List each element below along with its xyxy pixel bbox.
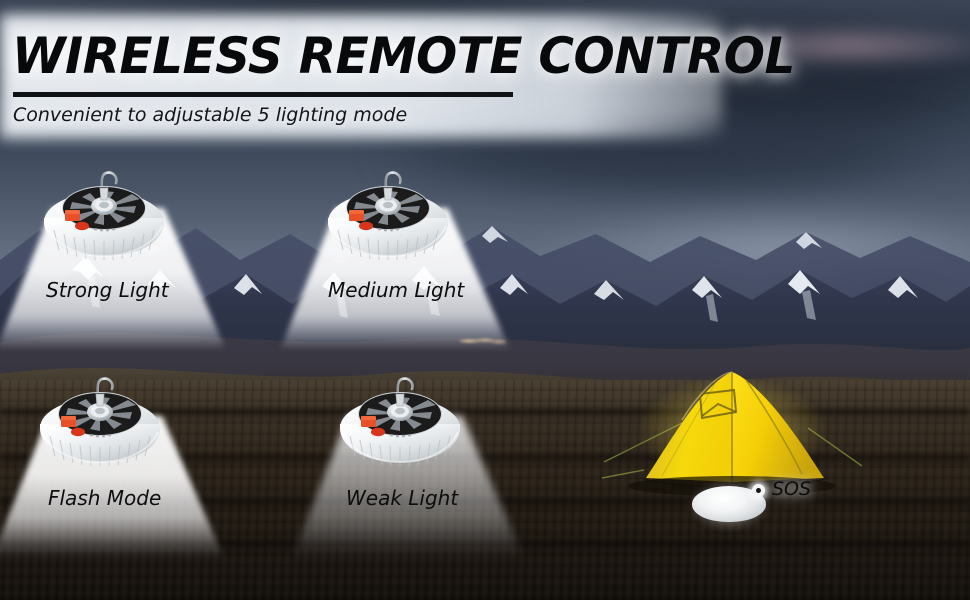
solar-lamp[interactable] (36, 374, 164, 478)
solar-lamp[interactable] (324, 168, 452, 272)
led-dot-icon (752, 484, 765, 497)
product-banner: SOS (0, 0, 970, 600)
page-subtitle: Convenient to adjustable 5 lighting mode (13, 104, 407, 126)
mode-label: Weak Light (346, 486, 458, 510)
mode-unit-flash-mode[interactable]: Flash Mode (0, 374, 278, 564)
solar-lamp[interactable] (336, 374, 464, 478)
sos-label: SOS (772, 478, 811, 500)
mode-unit-medium-light[interactable]: Medium Light (272, 168, 562, 358)
page-title: WIRELESS REMOTE CONTROL (12, 27, 795, 85)
mode-unit-strong-light[interactable]: Strong Light (0, 168, 278, 358)
mode-label: Medium Light (328, 278, 464, 302)
mode-label: Strong Light (46, 278, 169, 302)
title-divider (13, 92, 513, 97)
solar-lamp[interactable] (40, 168, 168, 272)
mode-unit-weak-light[interactable]: Weak Light (278, 374, 578, 564)
mode-label: Flash Mode (48, 486, 161, 510)
